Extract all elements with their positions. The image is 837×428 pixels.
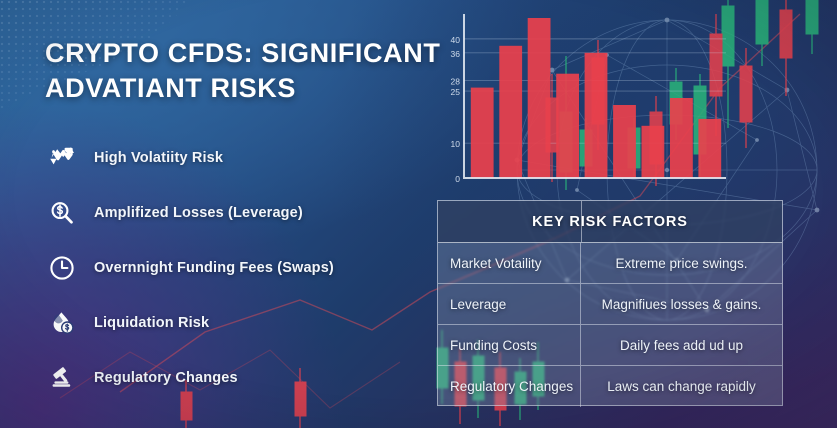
page-title-line-2: ADVATIANT RISKS <box>45 73 296 103</box>
magnifier-dollar-icon <box>44 195 80 231</box>
chart-bar <box>698 119 721 178</box>
risk-bullet-list: High Volatiity Risk Amplifized Losses (L… <box>44 139 444 414</box>
table-body: Market VotailityExtreme price swings.Lev… <box>438 243 782 407</box>
chart-ytick-label: 40 <box>451 35 461 45</box>
table-row: Market VotailityExtreme price swings. <box>438 243 782 284</box>
table-cell-factor: Regulatory Changes <box>438 366 581 407</box>
table-cell-factor: Market Votaility <box>438 243 581 283</box>
table-cell-detail: Laws can change rapidly <box>581 366 782 407</box>
list-item-label: Liquidation Risk <box>94 315 209 331</box>
chart-bar <box>613 105 636 178</box>
clock-icon <box>44 250 80 286</box>
volatility-zigzag-arrow-icon <box>44 140 80 176</box>
key-risk-factors-table: KEY RISK FACTORS Market VotailityExtreme… <box>437 200 783 406</box>
table-cell-detail: Daily fees add ud up <box>581 325 782 365</box>
table-cell-factor: Funding Costs <box>438 325 581 365</box>
chart-ytick-label: 10 <box>451 139 461 149</box>
chart-bar <box>585 53 608 178</box>
slide-canvas: CRYPTO CFDS: SIGNIFICANT ADVATIANT RISKS… <box>0 0 837 428</box>
list-item-label: Regulatory Changes <box>94 370 238 386</box>
list-item-liquidation-risk[interactable]: Liquidation Risk <box>44 304 444 342</box>
chart-ytick-label: 36 <box>451 49 461 59</box>
table-row: Regulatory ChangesLaws can change rapidl… <box>438 366 782 407</box>
table-row: LeverageMagnifiues losses & gains. <box>438 284 782 325</box>
chart-ytick-label: 0 <box>455 174 460 184</box>
gavel-icon <box>44 360 80 396</box>
table-header-label: KEY RISK FACTORS <box>532 214 688 230</box>
liquidation-droplet-coin-icon <box>44 305 80 341</box>
chart-ytick-labels: 40362825100 <box>451 35 461 184</box>
table-cell-detail: Magnifiues losses & gains. <box>581 284 782 324</box>
chart-bar <box>556 74 579 178</box>
table-header: KEY RISK FACTORS <box>438 201 782 243</box>
chart-bar <box>670 98 693 178</box>
chart-bar <box>642 126 665 178</box>
list-item-label: High Volatiity Risk <box>94 150 223 166</box>
list-item-high-volatility-risk[interactable]: High Volatiity Risk <box>44 139 444 177</box>
chart-bar <box>499 46 522 178</box>
list-item-amplified-losses[interactable]: Amplifized Losses (Leverage) <box>44 194 444 232</box>
table-cell-detail: Extreme price swings. <box>581 243 782 283</box>
table-cell-factor: Leverage <box>438 284 581 324</box>
chart-ytick-label: 28 <box>451 77 461 87</box>
page-title: CRYPTO CFDS: SIGNIFICANT ADVATIANT RISKS <box>45 36 465 106</box>
list-item-label: Overnnight Funding Fees (Swaps) <box>94 260 334 276</box>
list-item-label: Amplifized Losses (Leverage) <box>94 205 303 221</box>
bar-chart: 40362825100 <box>440 4 740 194</box>
chart-ytick-label: 25 <box>451 87 461 97</box>
chart-bar <box>471 88 494 178</box>
list-item-regulatory-changes[interactable]: Regulatory Changes <box>44 359 444 397</box>
table-row: Funding CostsDaily fees add ud up <box>438 325 782 366</box>
chart-bar <box>528 18 551 178</box>
page-title-line-1: CRYPTO CFDS: SIGNIFICANT <box>45 38 440 68</box>
chart-bars <box>471 18 721 178</box>
list-item-overnight-funding-fees[interactable]: Overnnight Funding Fees (Swaps) <box>44 249 444 287</box>
